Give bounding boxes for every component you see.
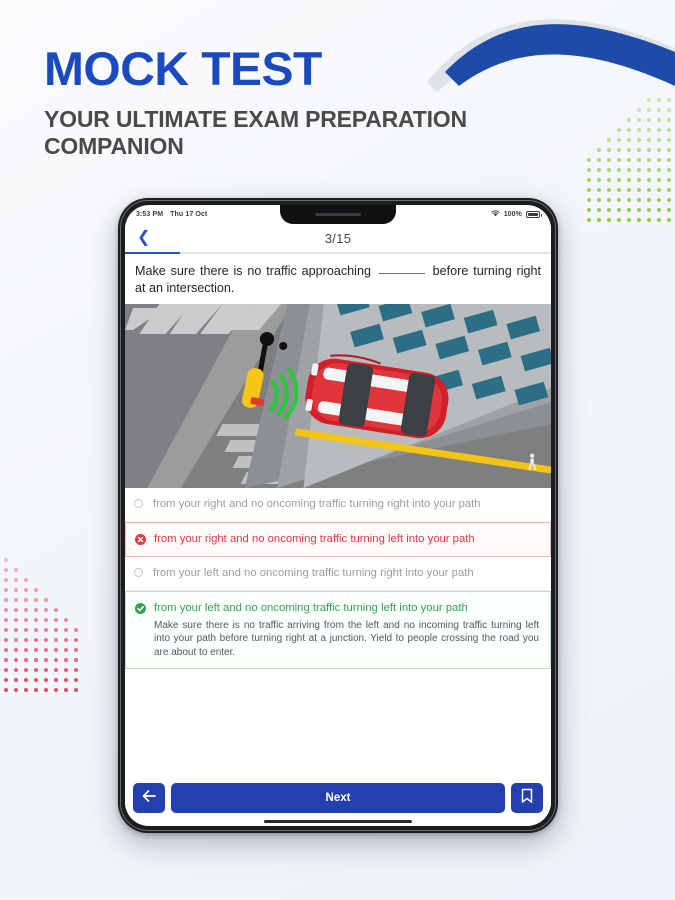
device-screen: 3:53 PM Thu 17 Oct 100% ❮ 3/15 Make sure…	[125, 205, 551, 826]
wifi-icon	[491, 210, 500, 219]
page-title: MOCK TEST	[44, 45, 615, 92]
answer-option-a-label: from your right and no oncoming traffic …	[153, 497, 540, 512]
question-text: Make sure there is no traffic approachin…	[125, 254, 551, 304]
answer-option-d-correct[interactable]: from your left and no oncoming traffic t…	[125, 591, 551, 669]
answer-option-d-label: from your left and no oncoming traffic t…	[154, 602, 468, 614]
bookmark-button[interactable]	[511, 783, 543, 813]
question-text-before-blank: Make sure there is no traffic approachin…	[135, 264, 371, 278]
bottom-navigation-bar: Next	[125, 777, 551, 817]
device-notch	[280, 205, 396, 224]
status-bar-date: Thu 17 Oct	[170, 211, 207, 218]
question-counter: 3/15	[125, 231, 551, 246]
page-subtitle: YOUR ULTIMATE EXAM PREPARATION COMPANION	[44, 106, 554, 160]
progress-bar-track	[125, 252, 551, 254]
answer-options-list: from your right and no oncoming traffic …	[125, 488, 551, 777]
circle-cross-icon	[135, 534, 146, 545]
question-blank	[379, 273, 425, 274]
intersection-right-turn-illustration	[125, 304, 551, 488]
app-header: ❮ 3/15	[125, 224, 551, 252]
answer-option-c-label: from your left and no oncoming traffic t…	[153, 566, 540, 581]
radio-unchecked-icon[interactable]	[134, 499, 145, 508]
arrow-left-icon	[141, 789, 157, 808]
battery-percent-label: 100%	[504, 211, 522, 218]
answer-explanation: Make sure there is no traffic arriving f…	[154, 619, 539, 659]
circle-check-icon	[135, 603, 146, 614]
battery-full-icon	[526, 211, 540, 218]
bookmark-icon	[520, 788, 534, 809]
promo-headline: MOCK TEST YOUR ULTIMATE EXAM PREPARATION…	[44, 45, 604, 160]
answer-option-c[interactable]: from your left and no oncoming traffic t…	[125, 557, 551, 591]
next-button[interactable]: Next	[171, 783, 505, 813]
previous-question-button[interactable]	[133, 783, 165, 813]
earpiece-speaker	[315, 213, 361, 216]
answer-option-b-label: from your right and no oncoming traffic …	[154, 532, 539, 547]
home-indicator	[125, 817, 551, 826]
status-bar-time: 3:53 PM	[136, 211, 163, 218]
answer-option-b-selected-wrong[interactable]: from your right and no oncoming traffic …	[125, 522, 551, 557]
illustration-svg	[125, 304, 551, 488]
answer-option-a[interactable]: from your right and no oncoming traffic …	[125, 488, 551, 522]
red-dot-pattern-decoration	[0, 558, 86, 698]
radio-unchecked-icon[interactable]	[134, 568, 145, 577]
progress-bar-fill	[125, 252, 180, 254]
tablet-device-frame: 3:53 PM Thu 17 Oct 100% ❮ 3/15 Make sure…	[118, 198, 558, 833]
